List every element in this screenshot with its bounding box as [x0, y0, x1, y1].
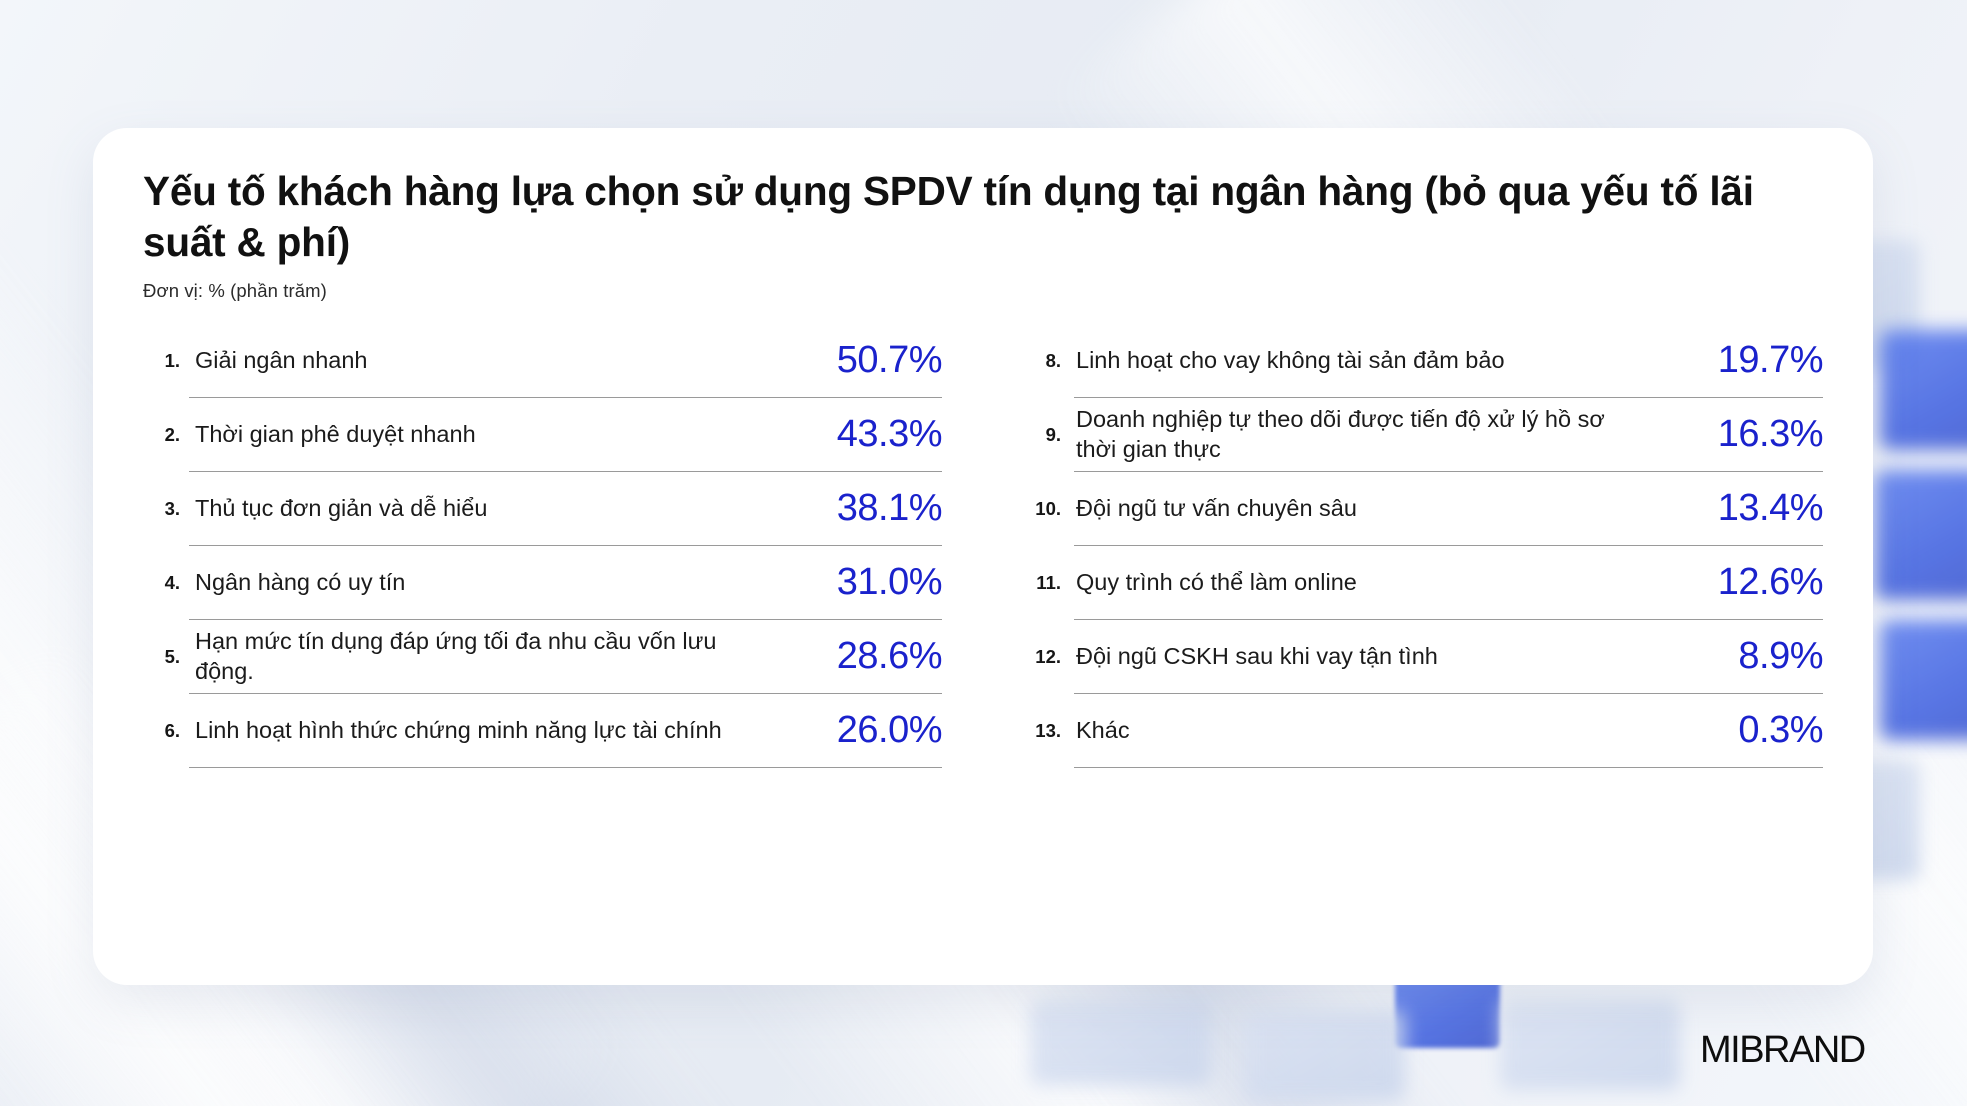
row-value: 12.6%: [1655, 562, 1823, 604]
table-row[interactable]: 11. Quy trình có thể làm online 12.6%: [1024, 546, 1823, 619]
row-value: 16.3%: [1655, 414, 1823, 456]
row-value: 26.0%: [774, 710, 942, 752]
row-rank: 12.: [1024, 646, 1070, 668]
row-value: 50.7%: [774, 340, 942, 382]
table-row[interactable]: 13. Khác 0.3%: [1024, 694, 1823, 767]
row-label: Doanh nghiệp tự theo dõi được tiến độ xử…: [1070, 405, 1655, 464]
background-cube-icon: [1880, 620, 1967, 740]
row-rank: 9.: [1024, 424, 1070, 446]
table-row[interactable]: 5. Hạn mức tín dụng đáp ứng tối đa nhu c…: [143, 620, 942, 693]
unit-subtitle: Đơn vị: % (phần trăm): [143, 280, 1823, 302]
row-label: Hạn mức tín dụng đáp ứng tối đa nhu cầu …: [189, 627, 774, 686]
left-column: 1. Giải ngân nhanh 50.7% 2. Thời gian ph…: [143, 324, 942, 768]
row-rank: 6.: [143, 720, 189, 742]
row-value: 28.6%: [774, 636, 942, 678]
row-value: 13.4%: [1655, 488, 1823, 530]
row-separator: [189, 767, 942, 768]
logo-wordmark: MIBRAND: [1700, 1029, 1865, 1071]
table-row[interactable]: 8. Linh hoạt cho vay không tài sản đảm b…: [1024, 324, 1823, 397]
background-cube-icon: [1245, 1010, 1405, 1100]
table-row[interactable]: 10. Đội ngũ tư vấn chuyên sâu 13.4%: [1024, 472, 1823, 545]
row-label: Quy trình có thể làm online: [1070, 568, 1655, 598]
row-value: 19.7%: [1655, 340, 1823, 382]
row-separator: [1074, 767, 1823, 768]
row-label: Linh hoạt cho vay không tài sản đảm bảo: [1070, 346, 1655, 376]
row-label: Khác: [1070, 716, 1655, 746]
row-rank: 1.: [143, 350, 189, 372]
table-row[interactable]: 2. Thời gian phê duyệt nhanh 43.3%: [143, 398, 942, 471]
row-rank: 3.: [143, 498, 189, 520]
right-column: 8. Linh hoạt cho vay không tài sản đảm b…: [1024, 324, 1823, 768]
row-rank: 13.: [1024, 720, 1070, 742]
table-row[interactable]: 3. Thủ tục đơn giản và dễ hiểu 38.1%: [143, 472, 942, 545]
row-label: Linh hoạt hình thức chứng minh năng lực …: [189, 716, 774, 746]
row-label: Đội ngũ CSKH sau khi vay tận tình: [1070, 642, 1655, 672]
page-title: Yếu tố khách hàng lựa chọn sử dụng SPDV …: [143, 166, 1823, 268]
row-rank: 5.: [143, 646, 189, 668]
background-cube-icon: [1875, 470, 1967, 600]
row-rank: 2.: [143, 424, 189, 446]
table-row[interactable]: 9. Doanh nghiệp tự theo dõi được tiến độ…: [1024, 398, 1823, 471]
row-value: 43.3%: [774, 414, 942, 456]
table-row[interactable]: 6. Linh hoạt hình thức chứng minh năng l…: [143, 694, 942, 767]
row-rank: 4.: [143, 572, 189, 594]
background-cube-icon: [1030, 1000, 1210, 1085]
row-rank: 10.: [1024, 498, 1070, 520]
background-cube-icon: [1500, 1000, 1680, 1090]
table-row[interactable]: 4. Ngân hàng có uy tín 31.0%: [143, 546, 942, 619]
row-rank: 8.: [1024, 350, 1070, 372]
table-row[interactable]: 12. Đội ngũ CSKH sau khi vay tận tình 8.…: [1024, 620, 1823, 693]
row-rank: 11.: [1024, 572, 1070, 594]
row-label: Đội ngũ tư vấn chuyên sâu: [1070, 494, 1655, 524]
content-card: Yếu tố khách hàng lựa chọn sử dụng SPDV …: [93, 128, 1873, 985]
row-value: 0.3%: [1655, 710, 1823, 752]
background-cube-icon: [1880, 330, 1967, 450]
row-label: Ngân hàng có uy tín: [189, 568, 774, 598]
row-value: 8.9%: [1655, 636, 1823, 678]
row-value: 38.1%: [774, 488, 942, 530]
row-value: 31.0%: [774, 562, 942, 604]
row-label: Giải ngân nhanh: [189, 346, 774, 376]
mibrand-logo: MIBRAND: [1700, 1026, 1915, 1074]
factor-columns: 1. Giải ngân nhanh 50.7% 2. Thời gian ph…: [143, 324, 1823, 768]
table-row[interactable]: 1. Giải ngân nhanh 50.7%: [143, 324, 942, 397]
row-label: Thủ tục đơn giản và dễ hiểu: [189, 494, 774, 524]
row-label: Thời gian phê duyệt nhanh: [189, 420, 774, 450]
